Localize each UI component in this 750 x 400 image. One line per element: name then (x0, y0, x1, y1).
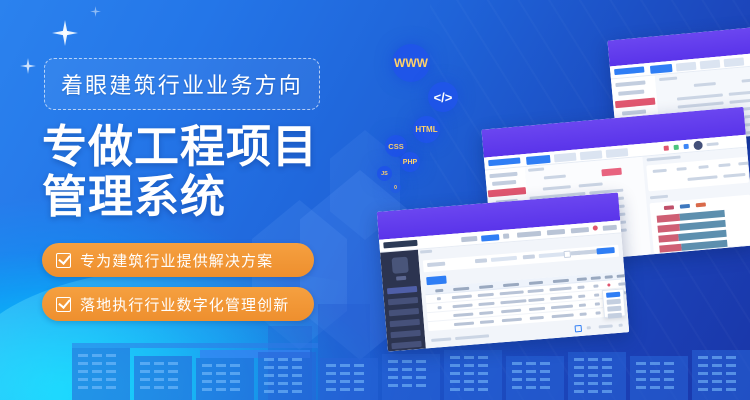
col-header-1 (435, 288, 443, 292)
tech-badge-html: HTML (413, 116, 440, 143)
app-logo (383, 240, 417, 249)
tab-4[interactable] (724, 57, 745, 67)
sidebar-label (396, 276, 406, 281)
menu-item[interactable] (607, 299, 621, 305)
col-header-10 (617, 274, 627, 278)
menu-item[interactable] (608, 313, 622, 319)
col-header-3 (479, 284, 493, 289)
menu-item-selected[interactable] (606, 292, 620, 298)
col-header-9 (605, 275, 613, 279)
info-badge[interactable] (683, 144, 688, 149)
filter-select-2[interactable] (539, 252, 565, 258)
filter-label-3 (523, 254, 535, 259)
avatar[interactable] (392, 257, 409, 274)
subtitle-box: 着眼建筑行业业务方向 (44, 58, 320, 110)
building-silhouette (382, 354, 440, 400)
tech-badge-js: JS (377, 166, 392, 181)
filter-label-2 (475, 258, 487, 263)
tab-2[interactable] (554, 153, 577, 163)
building-silhouette (630, 356, 688, 400)
tree-item-selected[interactable] (488, 187, 526, 197)
chart-panel (644, 148, 750, 255)
stat-cards (646, 157, 749, 192)
tree-item-selected[interactable] (615, 98, 655, 109)
tech-badge-label: </> (434, 90, 453, 105)
chart-legend (664, 202, 706, 210)
tab-4[interactable] (606, 148, 629, 158)
col-header-6 (553, 278, 569, 283)
notification-badge[interactable] (593, 225, 598, 230)
window-dots (607, 26, 750, 41)
menu-item[interactable] (607, 306, 621, 312)
sidebar-item-2[interactable] (388, 297, 418, 305)
dashboard-front[interactable] (377, 193, 629, 352)
tech-badge-code: </> (428, 82, 458, 112)
row-checkbox[interactable] (438, 306, 442, 309)
menu-item-3[interactable] (517, 231, 541, 238)
tab-1[interactable] (650, 64, 673, 74)
bullet-pill-2[interactable]: 落地执行行业数字化管理创新 (42, 287, 314, 321)
menu-item-4[interactable] (547, 229, 565, 235)
bullet-pill-1[interactable]: 专为建筑行业提供解决方案 (42, 243, 314, 277)
sidebar-item-4[interactable] (390, 319, 420, 327)
row-checkbox[interactable] (437, 297, 441, 300)
legend-swatch-c (696, 202, 706, 207)
filter-select-1[interactable] (491, 256, 517, 262)
chart-bar (661, 260, 729, 269)
page-title: 专做工程项目 管理系统 (42, 122, 372, 222)
tech-badge-label: WWW (394, 56, 428, 70)
page-size-label[interactable] (599, 324, 613, 328)
tech-badge-label: HTML (415, 125, 437, 134)
bar-chart (650, 195, 750, 254)
window-dots (481, 107, 743, 130)
app-logo (614, 66, 644, 75)
building-silhouette (72, 348, 130, 400)
tech-badge-label: PHP (403, 159, 417, 166)
headline-line-1: 专做工程项目 (42, 121, 318, 172)
promo-banner: WWW </> HTML CSS PHP JS 0 着眼建筑行业业务方向 专做工… (0, 0, 750, 400)
bullet-label-2: 落地执行行业数字化管理创新 (80, 294, 289, 315)
app-logo (488, 157, 520, 166)
sidebar-item-6[interactable] (391, 341, 421, 349)
tab-1[interactable] (526, 155, 551, 165)
sidebar-item-3[interactable] (389, 308, 419, 316)
filter-label-1 (427, 262, 445, 267)
sparkle-icon (20, 58, 36, 74)
menu-item-2-active[interactable] (481, 234, 499, 241)
row-context-menu[interactable] (602, 288, 626, 318)
tech-badge-label: JS (381, 171, 388, 177)
checkbox-checked-icon (56, 253, 71, 268)
alert-badge[interactable] (664, 145, 669, 150)
search-button[interactable] (596, 247, 614, 254)
tech-badge-label: 0 (394, 185, 397, 191)
headline-line-2: 管理系统 (42, 172, 372, 222)
avatar[interactable] (693, 141, 703, 151)
pagination-info (431, 337, 451, 342)
menu-item-5[interactable] (571, 227, 589, 233)
chevron-down-icon[interactable] (503, 233, 509, 238)
sidebar-item-5[interactable] (390, 330, 420, 338)
calendar-icon[interactable] (564, 251, 572, 259)
col-header-8 (591, 276, 601, 280)
tab-3[interactable] (580, 150, 603, 160)
bullet-label-1: 专为建筑行业提供解决方案 (80, 250, 273, 271)
status-badge[interactable] (674, 145, 679, 150)
building-silhouette (506, 356, 564, 400)
filter-bar (423, 245, 619, 273)
tech-badge-www: WWW (392, 44, 430, 82)
primary-action-button[interactable] (601, 168, 622, 177)
breadcrumb (420, 250, 432, 254)
content-panel (418, 233, 629, 348)
building-silhouette (568, 352, 626, 400)
col-header-7 (577, 277, 587, 281)
building-silhouette (692, 350, 750, 400)
building-silhouette (444, 350, 502, 400)
tech-badge-php: PHP (400, 152, 420, 172)
add-button[interactable] (426, 276, 447, 286)
page-next-button[interactable] (587, 326, 591, 329)
building-silhouette (196, 358, 254, 400)
col-header-4 (503, 282, 519, 287)
subtitle-text: 着眼建筑行业业务方向 (61, 68, 303, 100)
col-header-5 (529, 280, 543, 285)
user-menu[interactable] (603, 225, 617, 231)
tab-2[interactable] (676, 62, 697, 72)
sparkle-icon (52, 20, 78, 46)
tab-3[interactable] (700, 60, 721, 70)
page-1-button[interactable] (575, 325, 583, 333)
sidebar-item-1[interactable] (387, 286, 417, 294)
building-silhouette (134, 356, 192, 400)
checkbox-checked-icon (56, 297, 71, 312)
building-silhouette (258, 352, 316, 400)
sparkle-icon (90, 6, 101, 17)
building-silhouette (320, 358, 378, 400)
dashboard-front-app (379, 220, 629, 351)
menu-item-1[interactable] (461, 236, 477, 242)
tech-badge-zero: 0 (390, 182, 401, 193)
legend-swatch-b (680, 204, 690, 209)
legend-swatch-a (664, 205, 674, 210)
tech-badge-label: CSS (388, 142, 403, 151)
col-header-2 (453, 286, 469, 291)
status-dot (607, 283, 610, 286)
